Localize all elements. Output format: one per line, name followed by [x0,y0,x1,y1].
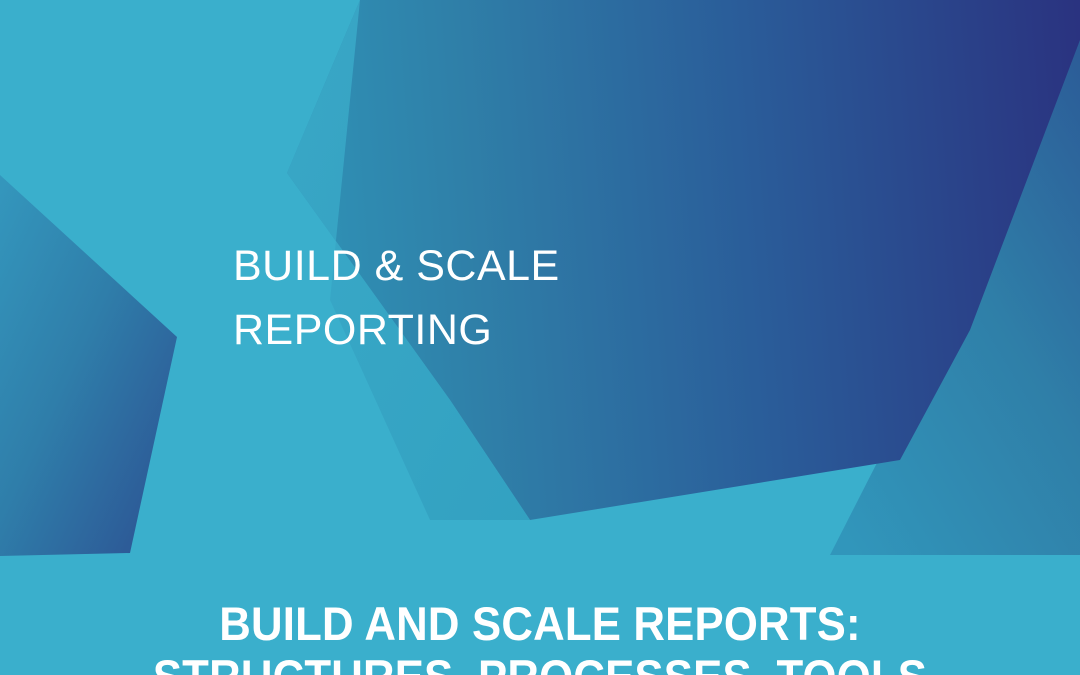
slide-headline: BUILD AND SCALE REPORTS: STRUCTURES, PRO… [0,597,1080,675]
slide-subtitle: BUILD & SCALE REPORTING [233,234,853,362]
subtitle-line-2: REPORTING [233,298,853,362]
subtitle-line-1: BUILD & SCALE [233,234,853,298]
presentation-slide: BUILD & SCALE REPORTING BUILD AND SCALE … [0,0,1080,675]
headline-line-2: STRUCTURES, PROCESSES, TOOLS [38,650,1042,675]
headline-line-1: BUILD AND SCALE REPORTS: [38,597,1042,650]
